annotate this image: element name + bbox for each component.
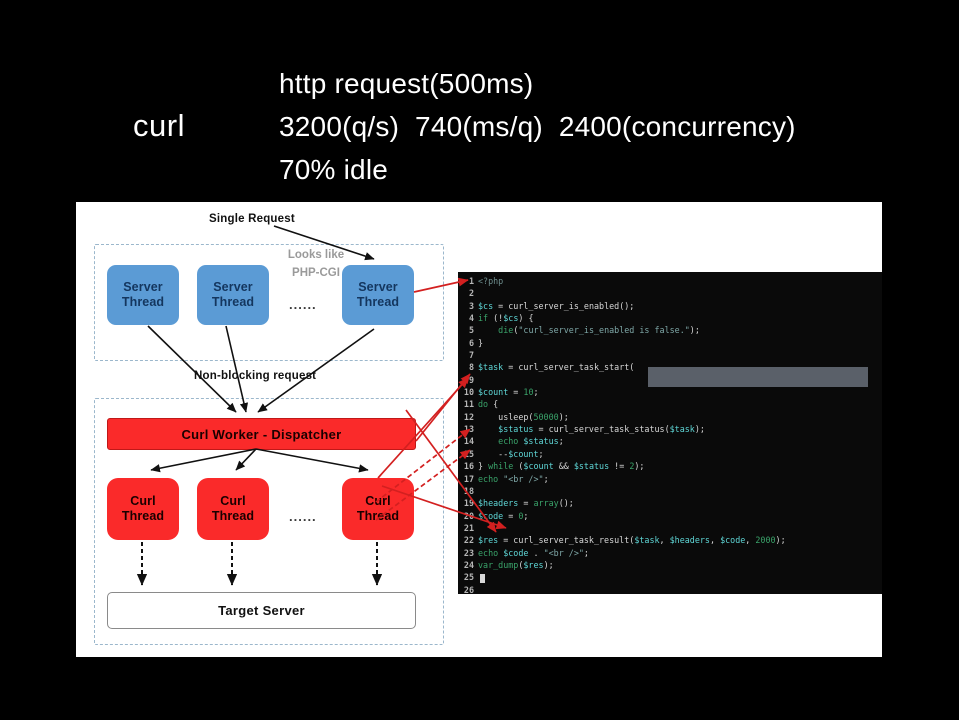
server-thread-node: Server Thread — [342, 265, 414, 325]
line-number: 10 — [458, 386, 478, 398]
line-number: 22 — [458, 534, 478, 546]
line-number: 5 — [458, 324, 478, 336]
code-line: 13 $status = curl_server_task_status($ta… — [458, 423, 882, 435]
server-thread-line1: Server — [358, 280, 398, 295]
code-text: echo "<br />"; — [478, 473, 549, 485]
curl-thread-ellipsis: ...... — [289, 509, 317, 524]
code-line: 16} while ($count && $status != 2); — [458, 460, 882, 472]
code-line: 22$res = curl_server_task_result($task, … — [458, 534, 882, 546]
code-line: 17echo "<br />"; — [458, 473, 882, 485]
code-line: 21 — [458, 522, 882, 534]
code-line: 19$headers = array(); — [458, 497, 882, 509]
code-text: usleep(50000); — [478, 411, 569, 423]
target-server-label: Target Server — [218, 603, 305, 618]
code-text: $count = 10; — [478, 386, 539, 398]
code-line: 12 usleep(50000); — [458, 411, 882, 423]
code-terminal[interactable]: 1<?php23$cs = curl_server_is_enabled();4… — [458, 272, 882, 594]
curl-thread-node: Curl Thread — [197, 478, 269, 540]
server-thread-line2: Thread — [122, 295, 164, 310]
line-number: 2 — [458, 287, 478, 299]
code-line: 26 — [458, 584, 882, 594]
code-text: $cs = curl_server_is_enabled(); — [478, 300, 634, 312]
non-blocking-request-label: Non-blocking request — [194, 370, 316, 382]
line-number: 18 — [458, 485, 478, 497]
code-line: 6} — [458, 337, 882, 349]
code-line: 11do { — [458, 398, 882, 410]
dispatcher-label: Curl Worker - Dispatcher — [181, 427, 341, 442]
code-line: 14 echo $status; — [458, 435, 882, 447]
server-thread-line1: Server — [123, 280, 163, 295]
metric-line-throughput: 3200(q/s) 740(ms/q) 2400(concurrency) — [279, 105, 796, 148]
line-number: 17 — [458, 473, 478, 485]
line-number: 6 — [458, 337, 478, 349]
line-number: 9 — [458, 374, 478, 386]
code-lines: 1<?php23$cs = curl_server_is_enabled();4… — [458, 275, 882, 594]
line-number: 3 — [458, 300, 478, 312]
code-text: } — [478, 337, 483, 349]
curl-thread-node: Curl Thread — [342, 478, 414, 540]
server-thread-node: Server Thread — [197, 265, 269, 325]
code-line: 3$cs = curl_server_is_enabled(); — [458, 300, 882, 312]
line-number: 1 — [458, 275, 478, 287]
page-title: curl — [133, 108, 185, 144]
line-number: 4 — [458, 312, 478, 324]
curl-thread-line1: Curl — [130, 494, 155, 509]
code-text: $res = curl_server_task_result($task, $h… — [478, 534, 786, 546]
code-line: 2 — [458, 287, 882, 299]
line-number: 11 — [458, 398, 478, 410]
code-line: 18 — [458, 485, 882, 497]
code-text: $status = curl_server_task_status($task)… — [478, 423, 705, 435]
curl-thread-line1: Curl — [365, 494, 390, 509]
architecture-diagram: Single Request Looks likePHP-CGI Non-blo… — [76, 202, 461, 657]
code-text: $code = 0; — [478, 510, 528, 522]
target-server-box: Target Server — [107, 592, 416, 629]
server-thread-line1: Server — [213, 280, 253, 295]
code-text: $task = curl_server_task_start( — [478, 361, 634, 373]
server-thread-ellipsis: ...... — [289, 297, 317, 312]
code-line: 4if (!$cs) { — [458, 312, 882, 324]
curl-thread-line2: Thread — [212, 509, 254, 524]
code-text: echo $status; — [478, 435, 564, 447]
code-line: 10$count = 10; — [458, 386, 882, 398]
line-number: 12 — [458, 411, 478, 423]
line-number: 7 — [458, 349, 478, 361]
line-number: 20 — [458, 510, 478, 522]
code-line: 24var_dump($res); — [458, 559, 882, 571]
curl-thread-line2: Thread — [122, 509, 164, 524]
line-number: 21 — [458, 522, 478, 534]
slide-header: curl http request(500ms) 3200(q/s) 740(m… — [0, 28, 959, 173]
line-number: 19 — [458, 497, 478, 509]
server-thread-line2: Thread — [212, 295, 254, 310]
code-text: if (!$cs) { — [478, 312, 534, 324]
code-text: $headers = array(); — [478, 497, 574, 509]
server-thread-line2: Thread — [357, 295, 399, 310]
line-number: 24 — [458, 559, 478, 571]
code-line: 20$code = 0; — [458, 510, 882, 522]
code-text: do { — [478, 398, 498, 410]
code-text: var_dump($res); — [478, 559, 554, 571]
code-line: 7 — [458, 349, 882, 361]
curl-worker-dispatcher-box: Curl Worker - Dispatcher — [107, 418, 416, 450]
code-line: 23echo $code . "<br />"; — [458, 547, 882, 559]
terminal-cursor — [480, 574, 485, 583]
line-number: 25 — [458, 571, 478, 583]
curl-thread-node: Curl Thread — [107, 478, 179, 540]
line-number: 13 — [458, 423, 478, 435]
line-number: 8 — [458, 361, 478, 373]
code-text: } while ($count && $status != 2); — [478, 460, 644, 472]
metric-line-idle: 70% idle — [279, 148, 796, 191]
code-line: 25 — [458, 571, 882, 583]
code-line: 1<?php — [458, 275, 882, 287]
line-number: 14 — [458, 435, 478, 447]
slide-image-panel: Single Request Looks likePHP-CGI Non-blo… — [76, 202, 882, 657]
code-text: --$count; — [478, 448, 544, 460]
metrics-list: http request(500ms) 3200(q/s) 740(ms/q) … — [279, 62, 796, 191]
code-line: 5 die("curl_server_is_enabled is false."… — [458, 324, 882, 336]
line-number: 16 — [458, 460, 478, 472]
line-number: 23 — [458, 547, 478, 559]
metric-line-http-request: http request(500ms) — [279, 62, 796, 105]
curl-thread-line2: Thread — [357, 509, 399, 524]
line-number: 15 — [458, 448, 478, 460]
code-text: echo $code . "<br />"; — [478, 547, 589, 559]
server-thread-node: Server Thread — [107, 265, 179, 325]
redaction-overlay — [648, 367, 868, 387]
code-text: <?php — [478, 275, 503, 287]
curl-thread-line1: Curl — [220, 494, 245, 509]
code-text: die("curl_server_is_enabled is false."); — [478, 324, 700, 336]
line-number: 26 — [458, 584, 478, 594]
code-line: 15 --$count; — [458, 448, 882, 460]
single-request-label: Single Request — [209, 213, 295, 225]
